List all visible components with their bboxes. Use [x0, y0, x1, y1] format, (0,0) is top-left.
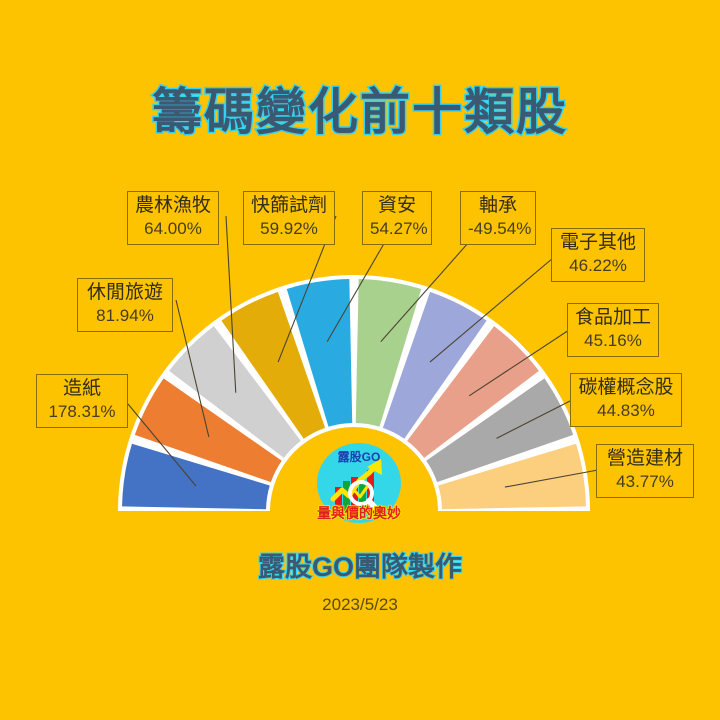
callout-name: 營造建材 — [604, 448, 686, 470]
callout-value: 178.31% — [44, 402, 120, 422]
callout-value: -49.54% — [468, 219, 528, 239]
callout-name: 資安 — [370, 195, 424, 217]
callout-name: 電子其他 — [559, 232, 637, 254]
callout-name: 快篩試劑 — [251, 195, 327, 217]
callout-value: 81.94% — [85, 306, 165, 326]
callout-name: 食品加工 — [575, 307, 651, 329]
callout-value: 43.77% — [604, 472, 686, 492]
callout-tanquangainiangu[interactable]: 碳權概念股 44.83% — [570, 373, 682, 427]
callout-yingzaojiancai[interactable]: 營造建材 43.77% — [596, 444, 694, 498]
callout-value: 46.22% — [559, 256, 637, 276]
logo-bottom-text: 量與價的奧妙 — [313, 503, 405, 523]
callout-value: 54.27% — [370, 219, 424, 239]
callout-name: 軸承 — [468, 195, 528, 217]
credit-text: 露股GO團隊製作 — [0, 545, 720, 584]
infographic-canvas: 籌碼變化前十類股 造紙 178.31% 休閒旅遊 81.94% 農林漁牧 64.… — [0, 0, 720, 720]
callout-name: 農林漁牧 — [135, 195, 211, 217]
brand-logo: 露股GO 量與價的奧妙 — [313, 437, 405, 529]
callout-nonglinyumu[interactable]: 農林漁牧 64.00% — [127, 191, 219, 245]
callout-zaozhi[interactable]: 造紙 178.31% — [36, 374, 128, 428]
callout-name: 造紙 — [44, 378, 120, 400]
date-text: 2023/5/23 — [0, 595, 720, 615]
callout-zian[interactable]: 資安 54.27% — [362, 191, 432, 245]
callout-shipinjiagong[interactable]: 食品加工 45.16% — [567, 303, 659, 357]
callout-value: 44.83% — [578, 401, 674, 421]
callout-value: 59.92% — [251, 219, 327, 239]
callout-zhoucheng[interactable]: 軸承 -49.54% — [460, 191, 536, 245]
callout-name: 休閒旅遊 — [85, 282, 165, 304]
callout-kuaishaishiji[interactable]: 快篩試劑 59.92% — [243, 191, 335, 245]
callout-xiuxianlvyou[interactable]: 休閒旅遊 81.94% — [77, 278, 173, 332]
callout-value: 45.16% — [575, 331, 651, 351]
callout-value: 64.00% — [135, 219, 211, 239]
callout-dianziqita[interactable]: 電子其他 46.22% — [551, 228, 645, 282]
logo-top-text: 露股GO — [313, 448, 405, 465]
callout-name: 碳權概念股 — [578, 377, 674, 399]
